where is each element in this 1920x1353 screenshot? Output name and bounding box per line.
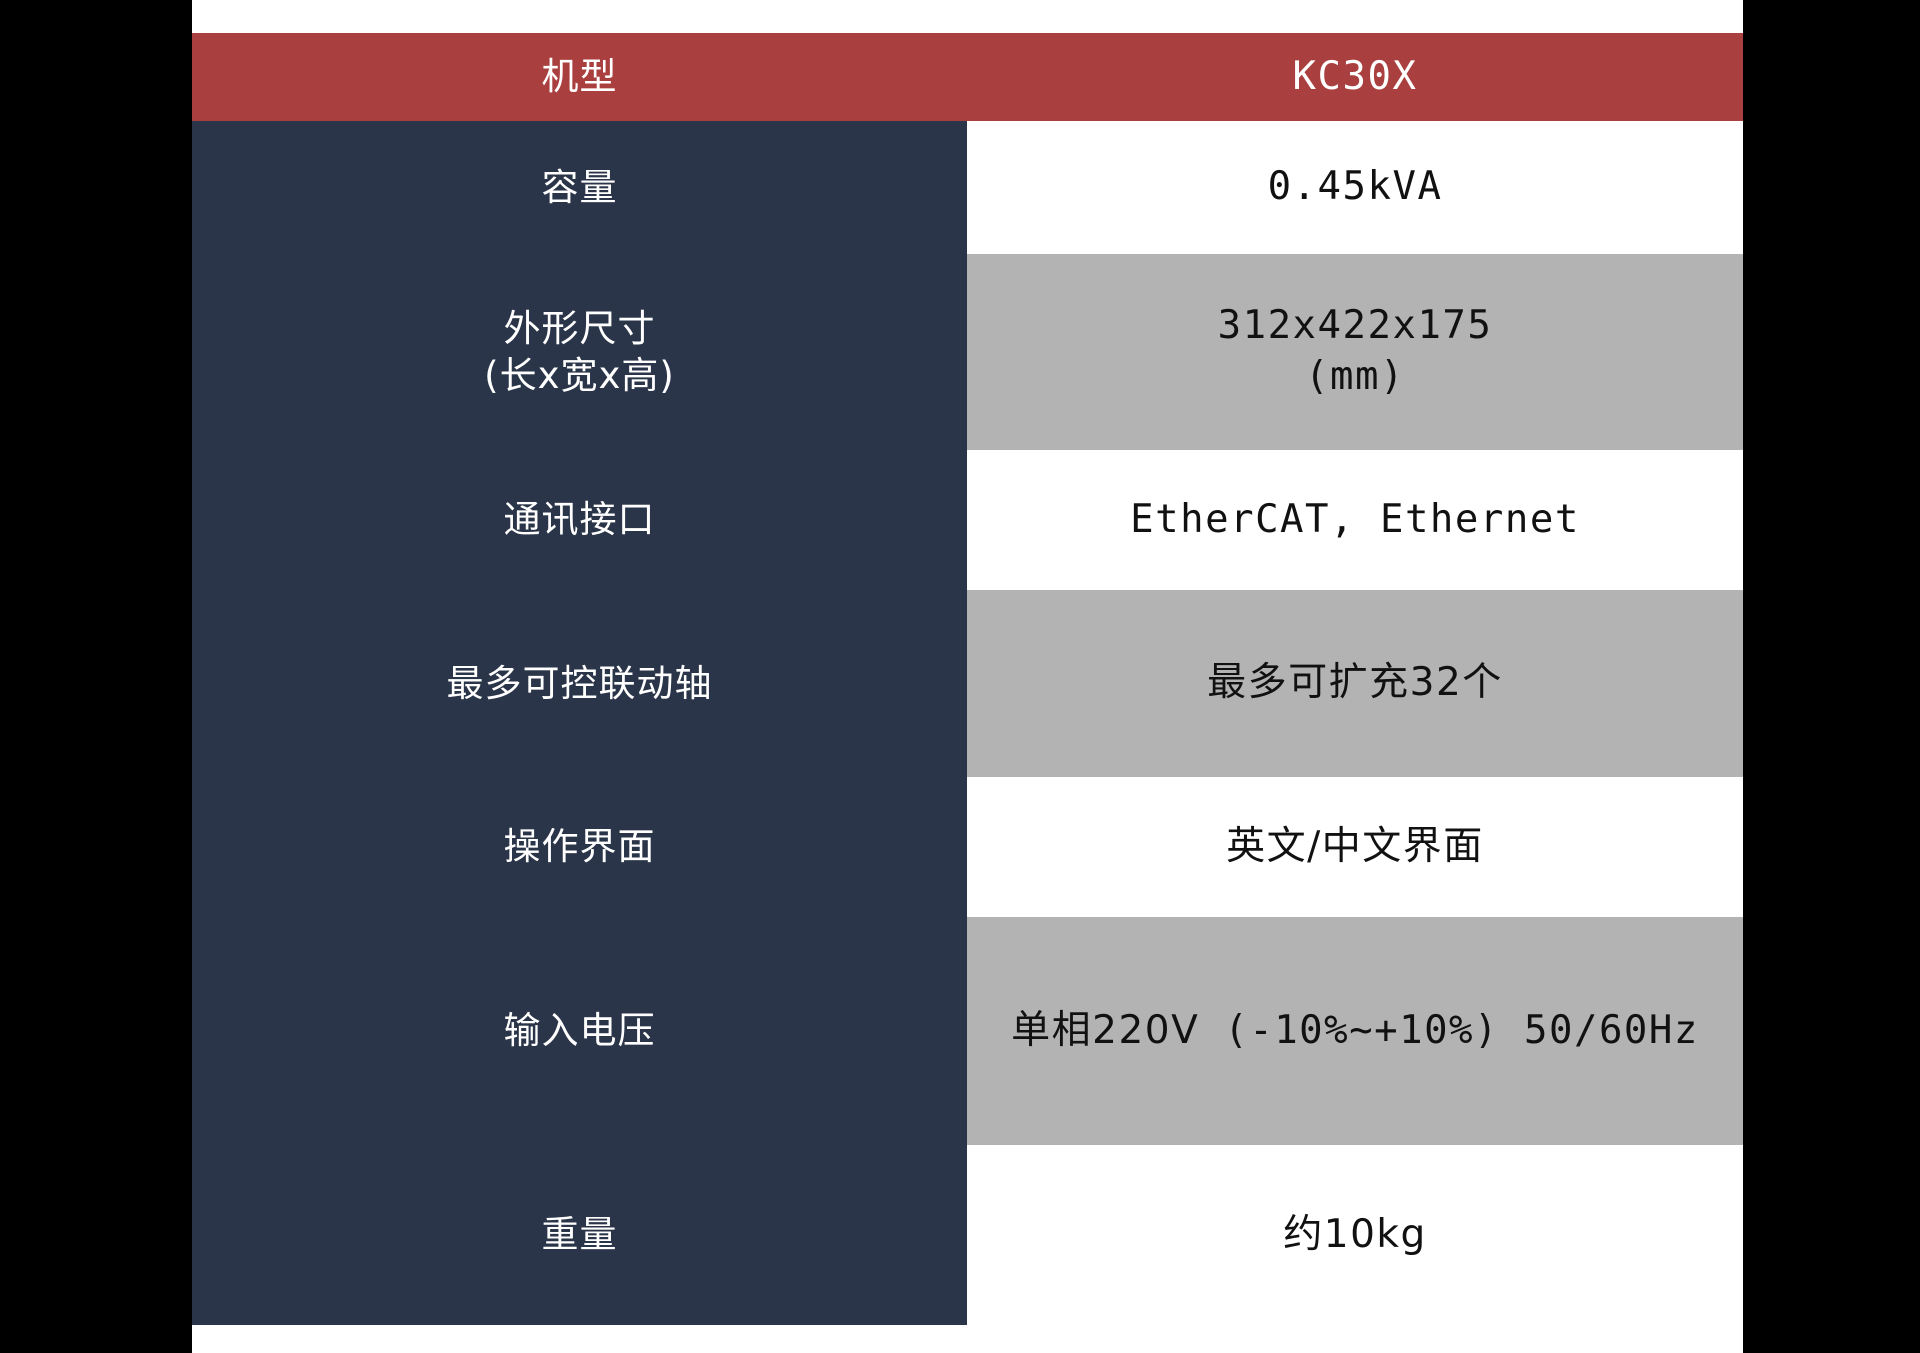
value-line: (mm) xyxy=(967,352,1743,403)
row-label-dimensions: 外形尺寸 (长x宽x高) xyxy=(192,254,967,450)
label-line: 输入电压 xyxy=(192,1007,967,1054)
row-value-communication: EtherCAT, Ethernet xyxy=(967,450,1743,590)
row-label-max-axes: 最多可控联动轴 xyxy=(192,590,967,777)
row-label-weight: 重量 xyxy=(192,1145,967,1325)
table-row: 通讯接口 EtherCAT, Ethernet xyxy=(192,450,1743,590)
table-row: 操作界面 英文/中文界面 xyxy=(192,777,1743,917)
row-label-capacity: 容量 xyxy=(192,121,967,254)
value-line: (-10%~+10%) xyxy=(1224,1008,1499,1053)
specification-table: 机型 KC30X 容量 0.45kVA 外形尺寸 (长x宽x高) xyxy=(192,33,1743,1325)
table-row: 容量 0.45kVA xyxy=(192,121,1743,254)
header-cell-model-value: KC30X xyxy=(967,33,1743,121)
header-cell-model-label: 机型 xyxy=(192,33,967,121)
table-row: 外形尺寸 (长x宽x高) 312x422x175 (mm) xyxy=(192,254,1743,450)
label-line: (长x宽x高) xyxy=(192,352,967,399)
value-line: 最多可扩充32个 xyxy=(967,658,1743,709)
table-row: 输入电压 单相220V (-10%~+10%) 50/60Hz xyxy=(192,917,1743,1145)
row-label-input-voltage: 输入电压 xyxy=(192,917,967,1145)
table-row: 最多可控联动轴 最多可扩充32个 xyxy=(192,590,1743,777)
value-line: 单相220V xyxy=(1011,1008,1199,1053)
label-line: 重量 xyxy=(192,1211,967,1258)
value-line: EtherCAT, Ethernet xyxy=(967,495,1743,546)
row-value-input-voltage: 单相220V (-10%~+10%) 50/60Hz xyxy=(967,917,1743,1145)
row-value-capacity: 0.45kVA xyxy=(967,121,1743,254)
table-row: 重量 约10kg xyxy=(192,1145,1743,1325)
row-label-interface: 操作界面 xyxy=(192,777,967,917)
value-line: 0.45kVA xyxy=(967,162,1743,213)
row-label-communication: 通讯接口 xyxy=(192,450,967,590)
table-header-row: 机型 KC30X xyxy=(192,33,1743,121)
label-line: 通讯接口 xyxy=(192,496,967,543)
label-line: 容量 xyxy=(192,164,967,211)
value-line: 英文/中文界面 xyxy=(967,822,1743,873)
value-line: 312x422x175 xyxy=(967,301,1743,352)
row-value-interface: 英文/中文界面 xyxy=(967,777,1743,917)
label-line: 操作界面 xyxy=(192,823,967,870)
label-line: 最多可控联动轴 xyxy=(192,660,967,707)
table-body: 机型 KC30X 容量 0.45kVA 外形尺寸 (长x宽x高) xyxy=(192,33,1743,1325)
row-value-weight: 约10kg xyxy=(967,1145,1743,1325)
value-line: 50/60Hz xyxy=(1524,1008,1699,1053)
row-value-max-axes: 最多可扩充32个 xyxy=(967,590,1743,777)
value-line: 约10kg xyxy=(967,1210,1743,1261)
row-value-dimensions: 312x422x175 (mm) xyxy=(967,254,1743,450)
label-line: 外形尺寸 xyxy=(192,305,967,352)
